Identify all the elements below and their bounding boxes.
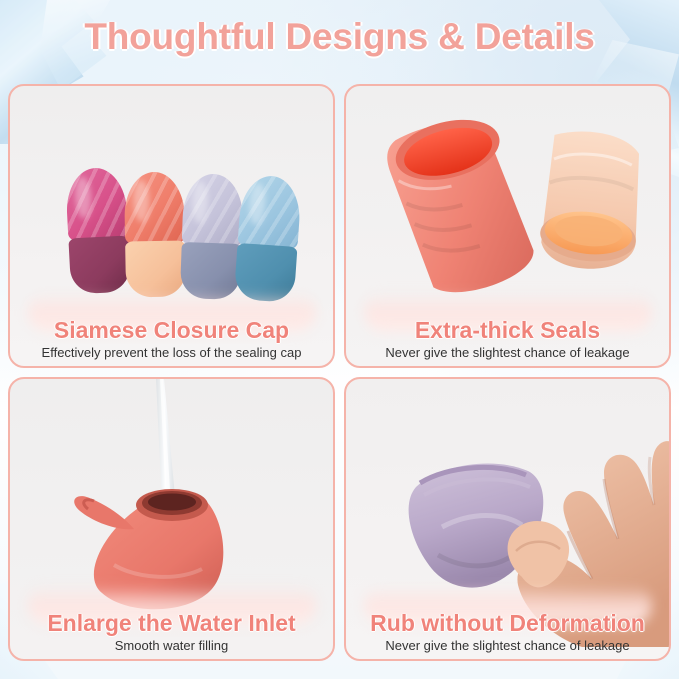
caption-subtitle: Never give the slightest chance of leaka… [346,345,669,361]
caption-siamese-closure-cap: Siamese Closure Cap Effectively prevent … [10,318,333,366]
swirl-texture-3 [182,173,244,247]
caption-title: Rub without Deformation [346,611,669,637]
caption-rub-without-deformation: Rub without Deformation Never give the s… [346,611,669,659]
cap-lavender [180,173,244,300]
cap-coral-top [124,171,185,244]
caption-extra-thick-seals: Extra-thick Seals Never give the slighte… [346,318,669,366]
caption-title: Extra-thick Seals [346,318,669,344]
cap-magenta [65,167,131,295]
caption-subtitle: Never give the slightest chance of leaka… [346,638,669,654]
caption-subtitle: Smooth water filling [10,638,333,654]
page-title: Thoughtful Designs & Details [0,16,679,58]
cap-magenta-top [65,167,129,242]
poster: Thoughtful Designs & Details [0,0,679,679]
panel-rub-without-deformation: Rub without Deformation Never give the s… [344,377,671,661]
caption-enlarge-the-water-inlet: Enlarge the Water Inlet Smooth water fil… [10,611,333,659]
caption-subtitle: Effectively prevent the loss of the seal… [10,345,333,361]
swirl-texture-4 [237,174,302,250]
cap-lavender-top [182,173,244,247]
cup-coral-open [381,108,539,303]
cap-coral-body [125,240,186,297]
panel-siamese-closure-cap: Siamese Closure Cap Effectively prevent … [8,84,335,368]
cup-peach-seal [537,128,647,274]
cap-magenta-body [68,235,131,294]
panel-extra-thick-seals: Extra-thick Seals Never give the slighte… [344,84,671,368]
swirl-texture-1 [65,167,129,242]
cap-coral [124,171,186,297]
cap-blue-top [237,174,302,250]
panel-enlarge-the-water-inlet: Enlarge the Water Inlet Smooth water fil… [8,377,335,661]
caption-title: Enlarge the Water Inlet [10,611,333,637]
cap-blue [234,174,303,303]
caption-title: Siamese Closure Cap [10,318,333,344]
feature-grid: Siamese Closure Cap Effectively prevent … [8,84,671,672]
